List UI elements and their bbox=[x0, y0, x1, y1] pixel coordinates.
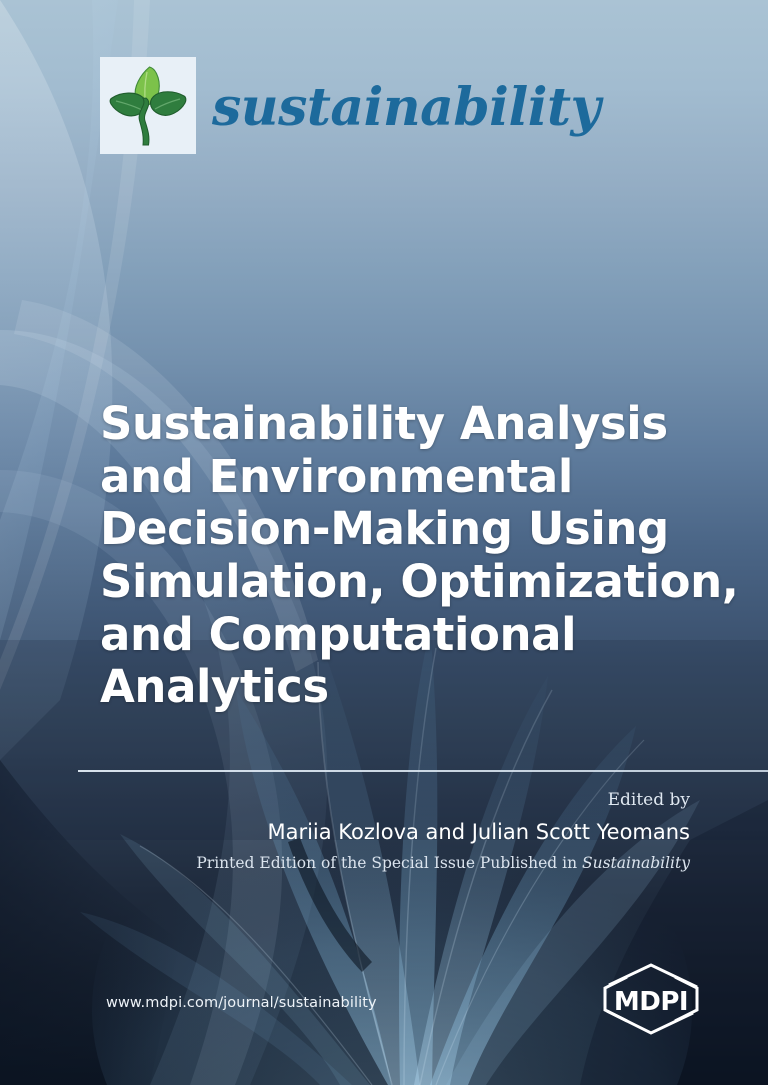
printed-edition-note: Printed Edition of the Special Issue Pub… bbox=[196, 852, 690, 875]
mdpi-hexagon-icon: MDPI bbox=[597, 963, 705, 1035]
plant-sprout-icon bbox=[100, 57, 196, 154]
title-line: Sustainability Analysis bbox=[100, 398, 700, 451]
editors-names: Mariia Kozlova and Julian Scott Yeomans bbox=[196, 816, 690, 849]
journal-header: sustainability bbox=[100, 57, 600, 154]
printed-edition-journal: Sustainability bbox=[582, 854, 690, 872]
page-title: Sustainability Analysis and Environmenta… bbox=[100, 398, 700, 714]
title-line: Decision-Making Using bbox=[100, 503, 700, 556]
credits-block: Edited by Mariia Kozlova and Julian Scot… bbox=[196, 788, 690, 875]
title-divider bbox=[78, 770, 768, 772]
journal-wordmark: sustainability bbox=[212, 82, 600, 134]
title-line: Analytics bbox=[100, 661, 700, 714]
title-line: Simulation, Optimization, bbox=[100, 556, 700, 609]
title-line: and Computational bbox=[100, 609, 700, 662]
printed-edition-prefix: Printed Edition of the Special Issue Pub… bbox=[196, 854, 582, 872]
book-cover: sustainability Sustainability Analysis a… bbox=[0, 0, 768, 1085]
journal-url: www.mdpi.com/journal/sustainability bbox=[106, 995, 377, 1011]
svg-text:MDPI: MDPI bbox=[614, 987, 688, 1017]
edited-by-label: Edited by bbox=[196, 788, 690, 814]
title-line: and Environmental bbox=[100, 451, 700, 504]
